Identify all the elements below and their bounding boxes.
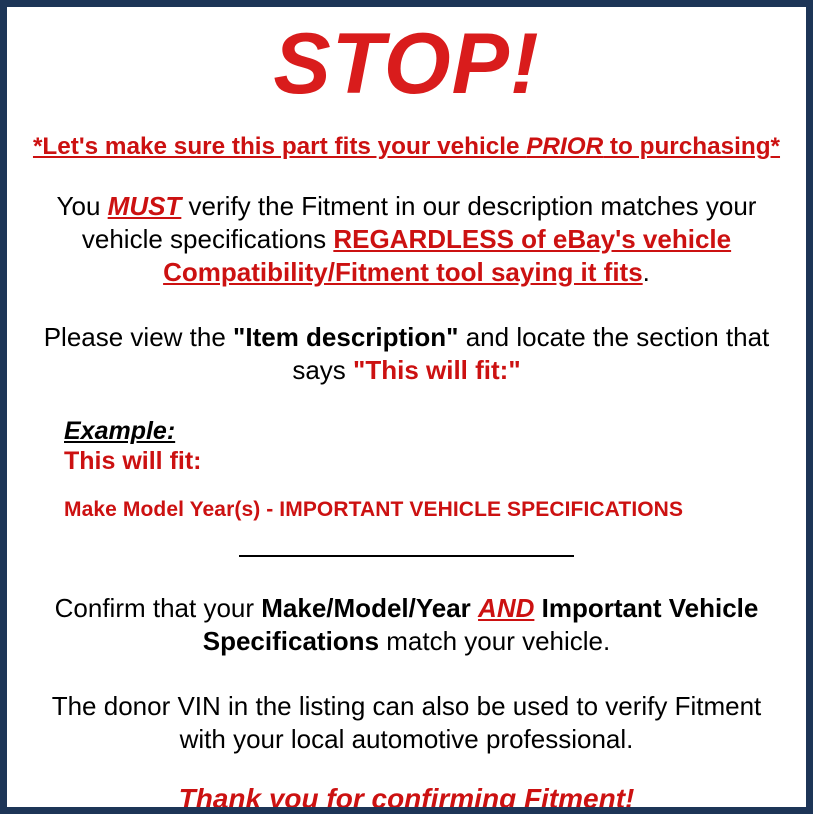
notice-content: STOP! *Let's make sure this part fits yo…: [7, 7, 806, 807]
emphasis-this-will-fit: "This will fit:": [353, 355, 521, 385]
horizontal-rule: [239, 555, 574, 557]
paragraph-confirm: Confirm that your Make/Model/Year AND Im…: [17, 592, 796, 658]
subtitle-emphasis-prior: PRIOR: [526, 133, 603, 160]
view-text-1: Please view the: [44, 322, 233, 352]
subtitle-text-before: *Let's make sure this part fits your veh…: [33, 133, 526, 160]
must-text-1: You: [57, 191, 108, 221]
divider-row: [17, 548, 796, 562]
example-label-row: Example:: [64, 417, 796, 445]
emphasis-make-model-year: Make/Model/Year: [261, 593, 471, 623]
emphasis-item-description: "Item description": [233, 322, 458, 352]
confirm-space-1: [471, 593, 478, 623]
emphasis-and: AND: [478, 593, 534, 623]
confirm-text-2: match your vehicle.: [379, 626, 610, 656]
example-spec-line: Make Model Year(s) - IMPORTANT VEHICLE S…: [64, 498, 796, 522]
example-label: Example:: [64, 417, 175, 445]
must-text-3: .: [643, 257, 650, 287]
subtitle-banner: *Let's make sure this part fits your veh…: [17, 134, 796, 161]
emphasis-must: MUST: [108, 191, 182, 221]
paragraph-donor-vin: The donor VIN in the listing can also be…: [17, 690, 796, 756]
thank-you-line: Thank you for confirming Fitment!: [17, 783, 796, 814]
confirm-space-2: [534, 593, 541, 623]
example-fit-header: This will fit:: [64, 446, 796, 476]
fitment-notice-card: STOP! *Let's make sure this part fits yo…: [0, 0, 813, 814]
example-block: Example: This will fit: Make Model Year(…: [17, 417, 796, 522]
paragraph-must-verify: You MUST verify the Fitment in our descr…: [17, 190, 796, 289]
confirm-text-1: Confirm that your: [55, 593, 262, 623]
subtitle-text-after: to purchasing*: [603, 133, 780, 160]
page-title: STOP!: [17, 21, 796, 107]
paragraph-item-description: Please view the "Item description" and l…: [17, 321, 796, 387]
